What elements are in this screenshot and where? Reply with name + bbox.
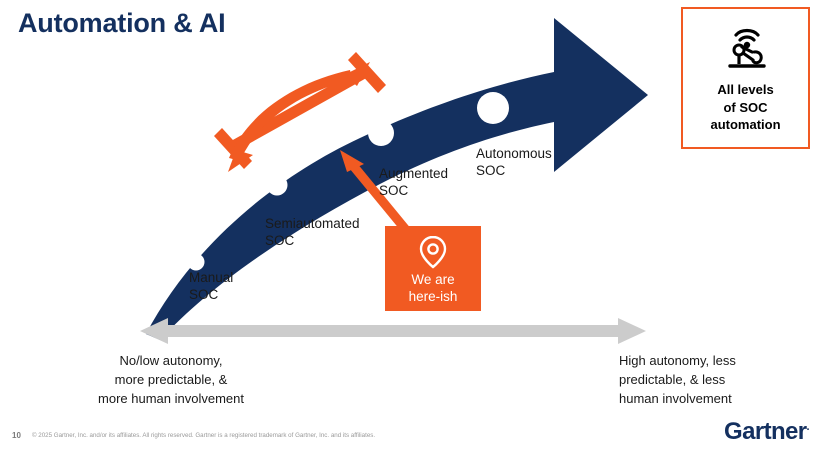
stage-label-autonomous-line1: Autonomous xyxy=(476,146,552,163)
stage-label-manual-line1: Manual xyxy=(189,270,233,287)
gartner-logo-text: Gartner xyxy=(724,418,807,445)
robot-arm-wireless-icon xyxy=(683,22,808,74)
we-are-here-callout: We are here-ish xyxy=(385,226,481,311)
footer-legal-text: © 2025 Gartner, Inc. and/or its affiliat… xyxy=(32,432,375,439)
stage-marker-autonomous xyxy=(477,92,509,124)
we-are-here-label: We are here-ish xyxy=(385,272,481,306)
stage-marker-augmented xyxy=(368,120,394,146)
stage-marker-manual xyxy=(188,254,205,271)
soc-automation-label: All levels of SOC automation xyxy=(683,81,808,134)
stage-label-manual-line2: SOC xyxy=(189,287,233,304)
location-pin-icon xyxy=(385,235,481,269)
gartner-logo: Gartner. xyxy=(724,418,809,446)
soc-automation-card: All levels of SOC automation xyxy=(681,7,810,149)
stage-label-augmented: Augmented SOC xyxy=(379,166,448,200)
stage-label-autonomous-line2: SOC xyxy=(476,163,552,180)
footer-page-number: 10 xyxy=(12,431,21,440)
slide-canvas: Automation & AI xyxy=(0,0,825,450)
stage-label-augmented-line2: SOC xyxy=(379,183,448,200)
stage-label-autonomous: Autonomous SOC xyxy=(476,146,552,180)
stage-label-semiautomated: Semiautomated SOC xyxy=(265,216,360,250)
axis-caption-high-autonomy: High autonomy, less predictable, & less … xyxy=(619,352,825,409)
stage-label-augmented-line1: Augmented xyxy=(379,166,448,183)
stage-label-semiautomated-line1: Semiautomated xyxy=(265,216,360,233)
stage-label-manual: Manual SOC xyxy=(189,270,233,304)
autonomy-axis-arrow xyxy=(140,318,646,344)
gartner-logo-mark: . xyxy=(807,421,809,433)
stage-label-semiautomated-line2: SOC xyxy=(265,233,360,250)
stage-marker-semiautomated xyxy=(267,175,288,196)
axis-caption-low-autonomy: No/low autonomy, more predictable, & mor… xyxy=(26,352,316,409)
